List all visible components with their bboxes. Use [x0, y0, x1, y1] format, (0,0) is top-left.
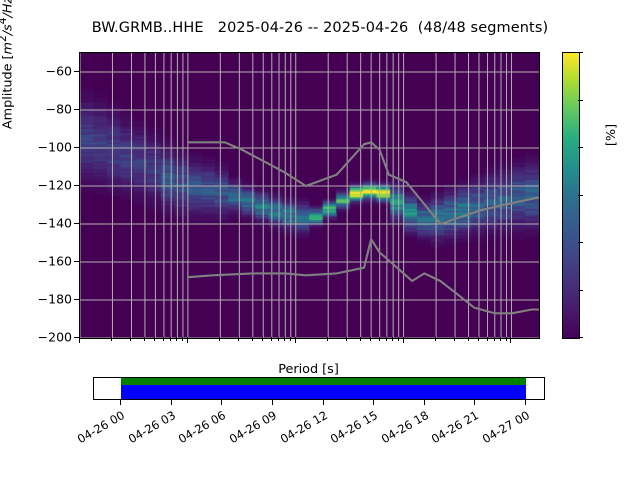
y-tick-mark [74, 261, 79, 262]
x-minor-tick [370, 337, 371, 341]
colorbar-tick-mark [578, 52, 583, 53]
y-tick-label-2: −100 [38, 140, 72, 155]
y-tick-label-4: −140 [38, 216, 72, 231]
x-minor-tick [238, 337, 239, 341]
y-tick-label-3: −120 [38, 178, 72, 193]
noise-model-curves [80, 53, 539, 338]
y-tick-label-6: −180 [38, 292, 72, 307]
timeline-tick-mark [525, 400, 526, 405]
x-minor-tick [386, 337, 387, 341]
x-tick-mark [187, 337, 188, 343]
x-minor-tick [278, 337, 279, 341]
y-tick-mark [74, 71, 79, 72]
timeline-tick-mark [221, 400, 222, 405]
colorbar-label: [%] [604, 75, 619, 195]
x-minor-tick [154, 337, 155, 341]
colorbar-tick-mark [578, 195, 583, 196]
ppsd-plot-area [79, 52, 540, 339]
x-minor-tick [252, 337, 253, 341]
timeline-tick-mark [120, 400, 121, 405]
x-minor-tick [130, 337, 131, 341]
x-minor-tick [346, 337, 347, 341]
x-minor-tick [144, 337, 145, 341]
x-minor-tick [284, 337, 285, 341]
timeline-tick-mark [323, 400, 324, 405]
timeline-tick-mark [474, 400, 475, 405]
colorbar-tick-mark [578, 337, 583, 338]
x-minor-tick [506, 337, 507, 341]
y-tick-mark [74, 109, 79, 110]
timeline-tick-mark [171, 400, 172, 405]
timeline-tick-mark [272, 400, 273, 405]
timeline-tick-mark [373, 400, 374, 405]
colorbar-tick-mark [578, 147, 583, 148]
x-minor-tick [170, 337, 171, 341]
x-tick-mark [79, 337, 80, 343]
y-tick-mark [74, 299, 79, 300]
x-axis-label: Period [s] [79, 362, 538, 377]
x-minor-tick [478, 337, 479, 341]
x-tick-mark [510, 337, 511, 343]
x-tick-mark [403, 337, 404, 343]
data-coverage-bar [121, 378, 526, 385]
colorbar-tick-mark [578, 290, 583, 291]
x-minor-tick [163, 337, 164, 341]
timeline-tick-mark [424, 400, 425, 405]
x-minor-tick [454, 337, 455, 341]
x-minor-tick [392, 337, 393, 341]
x-minor-tick [379, 337, 380, 341]
x-minor-tick [435, 337, 436, 341]
y-axis-label: Amplitude [m2/s4/Hz] [dB] [0, 0, 15, 195]
x-minor-tick [262, 337, 263, 341]
time-coverage-axis [93, 377, 545, 400]
x-minor-tick [468, 337, 469, 341]
x-minor-tick [290, 337, 291, 341]
x-minor-tick [487, 337, 488, 341]
x-minor-tick [500, 337, 501, 341]
y-tick-label-1: −80 [46, 102, 72, 117]
x-minor-tick [219, 337, 220, 341]
y-tick-mark [74, 147, 79, 148]
x-minor-tick [360, 337, 361, 341]
x-tick-mark [295, 337, 296, 343]
colorbar-tick-mark [578, 100, 583, 101]
x-minor-tick [111, 337, 112, 341]
x-minor-tick [398, 337, 399, 341]
colorbar-tick-mark [578, 242, 583, 243]
page-title: BW.GRMB..HHE 2025-04-26 -- 2025-04-26 (4… [0, 20, 640, 36]
x-minor-tick [182, 337, 183, 341]
y-tick-label-5: −160 [38, 254, 72, 269]
time-span-bar [121, 385, 526, 399]
x-minor-tick [176, 337, 177, 341]
y-tick-mark [74, 185, 79, 186]
colorbar [562, 52, 580, 339]
x-minor-tick [271, 337, 272, 341]
x-minor-tick [327, 337, 328, 341]
x-minor-tick [494, 337, 495, 341]
y-tick-label-7: −200 [38, 330, 72, 345]
y-tick-label-0: −60 [46, 64, 72, 79]
y-tick-mark [74, 223, 79, 224]
